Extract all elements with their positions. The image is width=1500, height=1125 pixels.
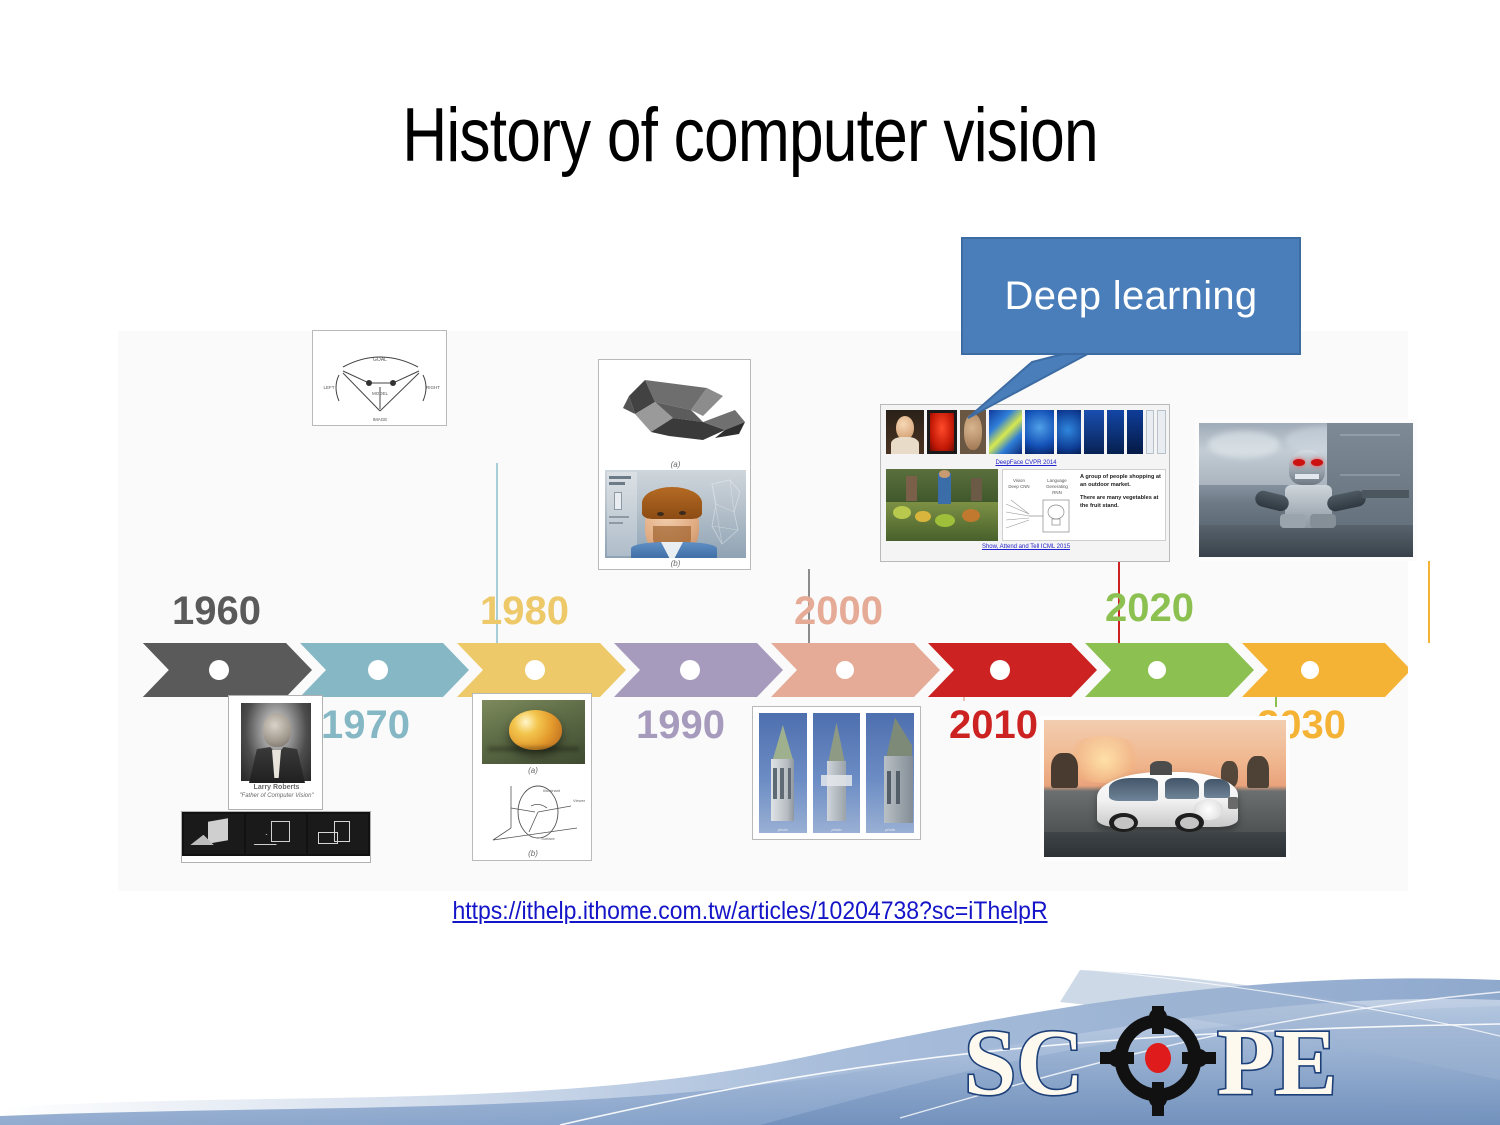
media-card-2010[interactable]: DeepFace CVPR 2014 [880, 404, 1170, 562]
decade-label-2000: 2000 [794, 589, 883, 634]
svg-text:MODEL: MODEL [372, 391, 389, 396]
page-title: History of computer vision [135, 92, 1365, 179]
media-card-1970[interactable]: GOAL LEFT RIGHT MODEL IMAGE [312, 330, 447, 426]
apple-photo [482, 700, 585, 764]
decade-label-2020: 2020 [1105, 586, 1194, 631]
scope-logo: SC PE [962, 1006, 1422, 1118]
callout-label: Deep learning [1005, 274, 1258, 319]
decade-label-1990: 1990 [636, 703, 725, 748]
show-attend-tell-credit-text: Show, Attend and Tell ICML 2015 [982, 544, 1070, 550]
block-world-cell [184, 814, 244, 854]
tower-photo: photo [866, 713, 914, 833]
apple-shape [509, 710, 563, 750]
connector-2030 [1428, 561, 1430, 643]
svg-text:Vision: Vision [1013, 478, 1025, 483]
decade-label-1980: 1980 [480, 589, 569, 634]
slide-canvas: History of computer vision [0, 0, 1500, 1125]
show-attend-tell-credit: Show, Attend and Tell ICML 2015 [881, 544, 1170, 550]
knowledge-diagram: GOAL LEFT RIGHT MODEL IMAGE [313, 331, 447, 426]
block-world-strip [181, 811, 371, 863]
crosshair-icon [1100, 1006, 1216, 1116]
block-world-cell [246, 814, 306, 854]
svg-text:Language: Language [1047, 478, 1067, 483]
svg-text:Illuminant: Illuminant [543, 788, 561, 793]
caption-text-line-2: There are many vegetables at the fruit s… [1080, 495, 1162, 510]
svg-text:Surface: Surface [541, 836, 556, 841]
caption-1980-b: (b) [473, 849, 592, 858]
deep-learning-callout[interactable]: Deep learning [961, 237, 1301, 355]
svg-text:Generating: Generating [1046, 484, 1068, 489]
target-center-dot [1145, 1043, 1171, 1073]
svg-text:Deep CNN: Deep CNN [1008, 484, 1029, 489]
caption-1990-a: (a) [599, 460, 751, 469]
deepface-credit: DeepFace CVPR 2014 [881, 460, 1170, 466]
larry-roberts-subtitle: "Father of Computer Vision" [229, 793, 324, 799]
decade-label-2010: 2010 [949, 703, 1038, 748]
svg-text:Viewer: Viewer [573, 798, 585, 803]
market-photo [886, 469, 998, 541]
larry-roberts-name: Larry Roberts [229, 784, 324, 791]
decade-label-1960: 1960 [172, 589, 261, 634]
tower-photo: photo [759, 713, 807, 833]
robot-photo [1199, 423, 1413, 557]
media-card-2020[interactable] [1040, 716, 1290, 861]
svg-text:GOAL: GOAL [373, 357, 387, 363]
timeline-panel: 1960 1970 1980 1990 2000 2010 2020 2030 … [118, 331, 1408, 891]
block-world-cell [308, 814, 368, 854]
caption-text-line-1: A group of people shopping at an outdoor… [1080, 474, 1162, 489]
deepface-credit-text: DeepFace CVPR 2014 [995, 460, 1056, 466]
larry-roberts-photo [241, 703, 311, 781]
face-portrait-photo [605, 470, 746, 558]
tower-photo: photo [813, 713, 861, 833]
logo-text-right: PE [1217, 1011, 1337, 1115]
media-card-2000[interactable]: photo photo photo [752, 706, 921, 840]
logo-text-left: SC [964, 1011, 1084, 1115]
caption-1980-a: (a) [473, 766, 592, 775]
shape-from-shading-diagram: Illuminant Viewer Surface [481, 778, 585, 848]
svg-text:RNN: RNN [1052, 490, 1062, 495]
caption-1990-b: (b) [599, 559, 751, 568]
svg-text:LEFT: LEFT [323, 385, 334, 390]
svg-text:RIGHT: RIGHT [426, 385, 440, 390]
source-url-link[interactable]: https://ithelp.ithome.com.tw/articles/10… [60, 897, 1440, 926]
media-card-1990[interactable]: (a) [598, 359, 751, 570]
media-card-1960[interactable]: Larry Roberts "Father of Computer Vision… [181, 693, 371, 863]
svg-text:IMAGE: IMAGE [373, 417, 388, 422]
self-driving-car-photo [1044, 720, 1286, 857]
media-card-1980[interactable]: (a) Illuminant Viewer Surface (b) [472, 693, 592, 861]
media-card-2030[interactable] [1195, 419, 1417, 561]
faceted-3d-shape [599, 366, 751, 458]
